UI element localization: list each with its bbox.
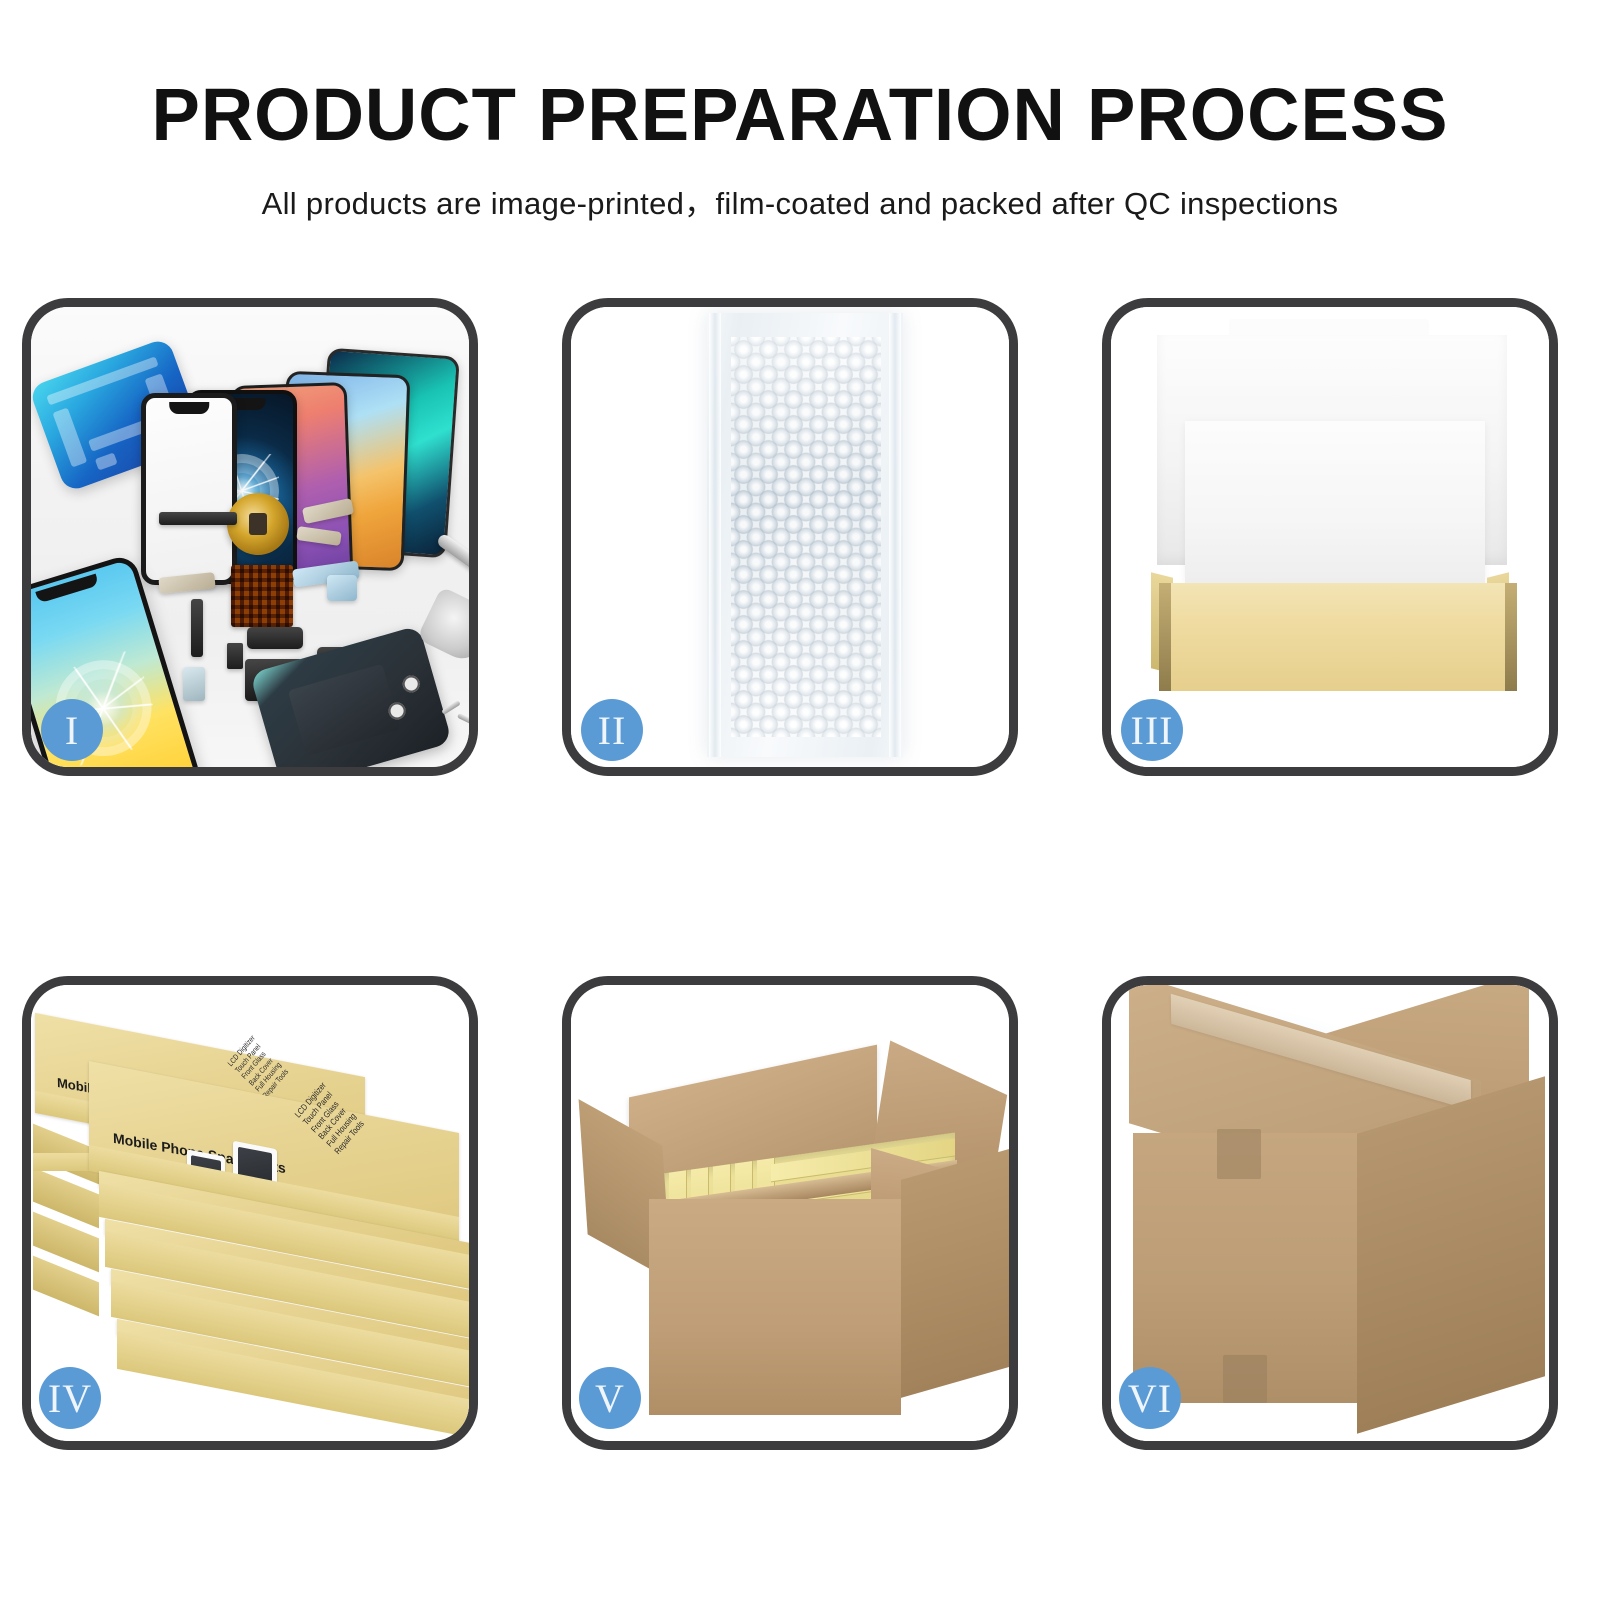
step-products-scene [31,307,469,767]
step-numeral: III [1131,707,1174,754]
carton-body-right [901,1146,1009,1398]
step-panel-3[interactable]: III [1102,298,1558,776]
mailer-box-front [1159,583,1517,691]
bubble-wrap-bag-icon [707,313,903,757]
step-numeral: VI [1128,1375,1172,1422]
step-sealed-carton-scene [1111,985,1549,1441]
step-badge-3: III [1121,699,1183,761]
carton-tab [1217,1129,1261,1179]
step-panel-6[interactable]: VI [1102,976,1558,1450]
bag-seam-right [889,313,901,757]
step-badge-4: IV [39,1367,101,1429]
battery-icon [287,664,401,757]
bracket-icon [227,643,243,669]
speaker-bar-icon [159,512,237,525]
step-badge-5: V [579,1367,641,1429]
step-retail-boxes-scene: Mobile Phone Spare Parts LCD Digitizer T… [31,985,469,1441]
camera-lens-icon [401,674,422,695]
retail-box-stack: Mobile Phone Spare Parts LCD Digitizer T… [31,985,469,1441]
wireless-charging-coil-icon [227,493,289,555]
step-panel-1[interactable]: I [22,298,478,776]
process-grid: I II III [0,0,1600,1600]
carton-tab [1223,1355,1267,1403]
step-carton-loading-scene [571,985,1009,1441]
bubble-pattern [731,337,881,737]
bag-seam-left [709,313,721,757]
carton-body-front [649,1199,901,1415]
notch-icon [169,402,209,414]
front-glass-icon [141,393,237,585]
step-badge-1: I [41,699,103,761]
step-badge-2: II [581,699,643,761]
connector-icon [327,575,357,601]
carton-front-face [1133,1133,1357,1403]
step-numeral: IV [48,1375,92,1422]
carton-side-face [1357,1076,1545,1433]
screws-icon [441,699,469,735]
step-panel-2[interactable]: II [562,298,1018,776]
step-inner-box-scene [1111,307,1549,767]
ic-chip-icon [231,565,293,627]
step-panel-5[interactable]: V [562,976,1018,1450]
step-badge-6: VI [1119,1367,1181,1429]
antenna-strip-icon [191,599,203,657]
step-numeral: V [595,1375,625,1422]
foam-insert-icon [1185,421,1485,583]
step-numeral: II [598,707,627,754]
step-panel-4[interactable]: Mobile Phone Spare Parts LCD Digitizer T… [22,976,478,1450]
sim-tray-icon [183,667,205,701]
vibration-motor-icon [247,627,303,649]
step-numeral: I [65,707,79,754]
step-bubble-wrap-scene [571,307,1009,767]
